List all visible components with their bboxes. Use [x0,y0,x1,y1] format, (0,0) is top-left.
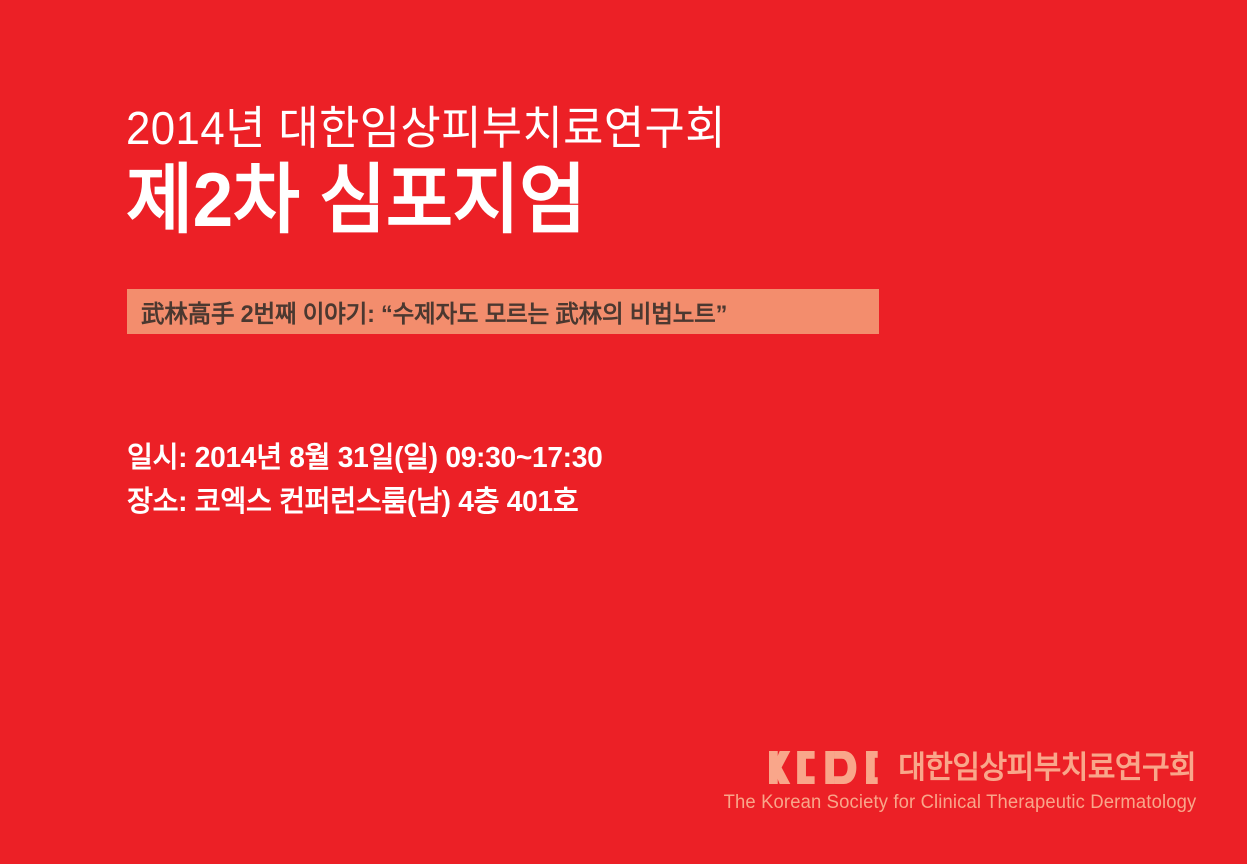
subtitle-banner-label: 武林高手 2번째 이야기: “수제자도 모르는 武林의 비법노트” [141,294,727,329]
event-details: 일시: 2014년 8월 31일(일) 09:30~17:30 장소: 코엑스 … [127,436,617,524]
kcd-logomark-icon [769,751,878,784]
poster-subtitle-year: 2014년 대한임상피부치료연구회 [126,104,981,152]
poster-heading: 2014년 대한임상피부치료연구회 제2차 심포지엄 [126,104,1026,242]
event-venue: 장소: 코엑스 컨퍼런스룸(남) 4층 401호 [127,480,602,524]
event-datetime: 일시: 2014년 8월 31일(일) 09:30~17:30 [127,436,602,480]
page-title: 제2차 심포지엄 [126,160,990,242]
organization-logo: 대한임상피부치료연구회 The Korean Society for Clini… [709,751,1196,812]
event-poster: 2014년 대한임상피부치료연구회 제2차 심포지엄 武林高手 2번째 이야기:… [0,0,1247,864]
logo-primary-row: 대한임상피부치료연구회 [709,751,1196,784]
logo-society-name: 대한임상피부치료연구회 [898,752,1196,783]
subtitle-banner: 武林高手 2번째 이야기: “수제자도 모르는 武林의 비법노트” [127,289,879,334]
logo-tagline: The Korean Society for Clinical Therapeu… [723,793,1196,812]
